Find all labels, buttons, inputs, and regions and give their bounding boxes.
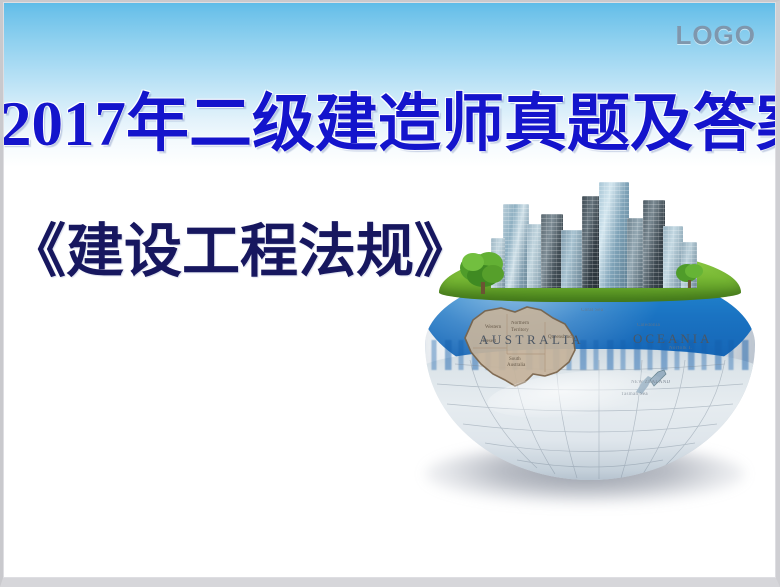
slide-title: 2017年二级建造师真题及答案 bbox=[0, 84, 780, 164]
map-label-norfolk-island: Norfolk I. bbox=[669, 346, 692, 351]
building-6 bbox=[599, 182, 629, 288]
presentation-slide: Western Northern Territory Queensland So… bbox=[0, 0, 780, 587]
svg-text:Northern: Northern bbox=[511, 321, 530, 326]
svg-text:Australia: Australia bbox=[507, 363, 526, 368]
new-zealand-islands bbox=[630, 366, 678, 404]
logo-text[interactable]: LOGO bbox=[675, 20, 756, 51]
building-8 bbox=[643, 200, 665, 288]
svg-text:South: South bbox=[509, 357, 521, 362]
building-3 bbox=[541, 214, 563, 288]
australia-continent: Western Northern Territory Queensland So… bbox=[449, 302, 595, 394]
slide-subtitle: 《建设工程法规》 bbox=[8, 215, 468, 289]
map-label-australia: AUSTRALIA bbox=[479, 332, 584, 348]
map-label-tasman-sea: Tasman Sea bbox=[621, 392, 648, 397]
map-label-new-caledonia: Caledonia bbox=[637, 323, 660, 328]
svg-text:Western: Western bbox=[485, 325, 502, 330]
map-label-new-zealand: NEW ZEALAND bbox=[631, 380, 670, 385]
map-label-oceania: OCEANIA bbox=[633, 331, 713, 347]
map-label-coral-sea: Coral Sea bbox=[581, 308, 603, 313]
tree-right bbox=[673, 260, 707, 295]
